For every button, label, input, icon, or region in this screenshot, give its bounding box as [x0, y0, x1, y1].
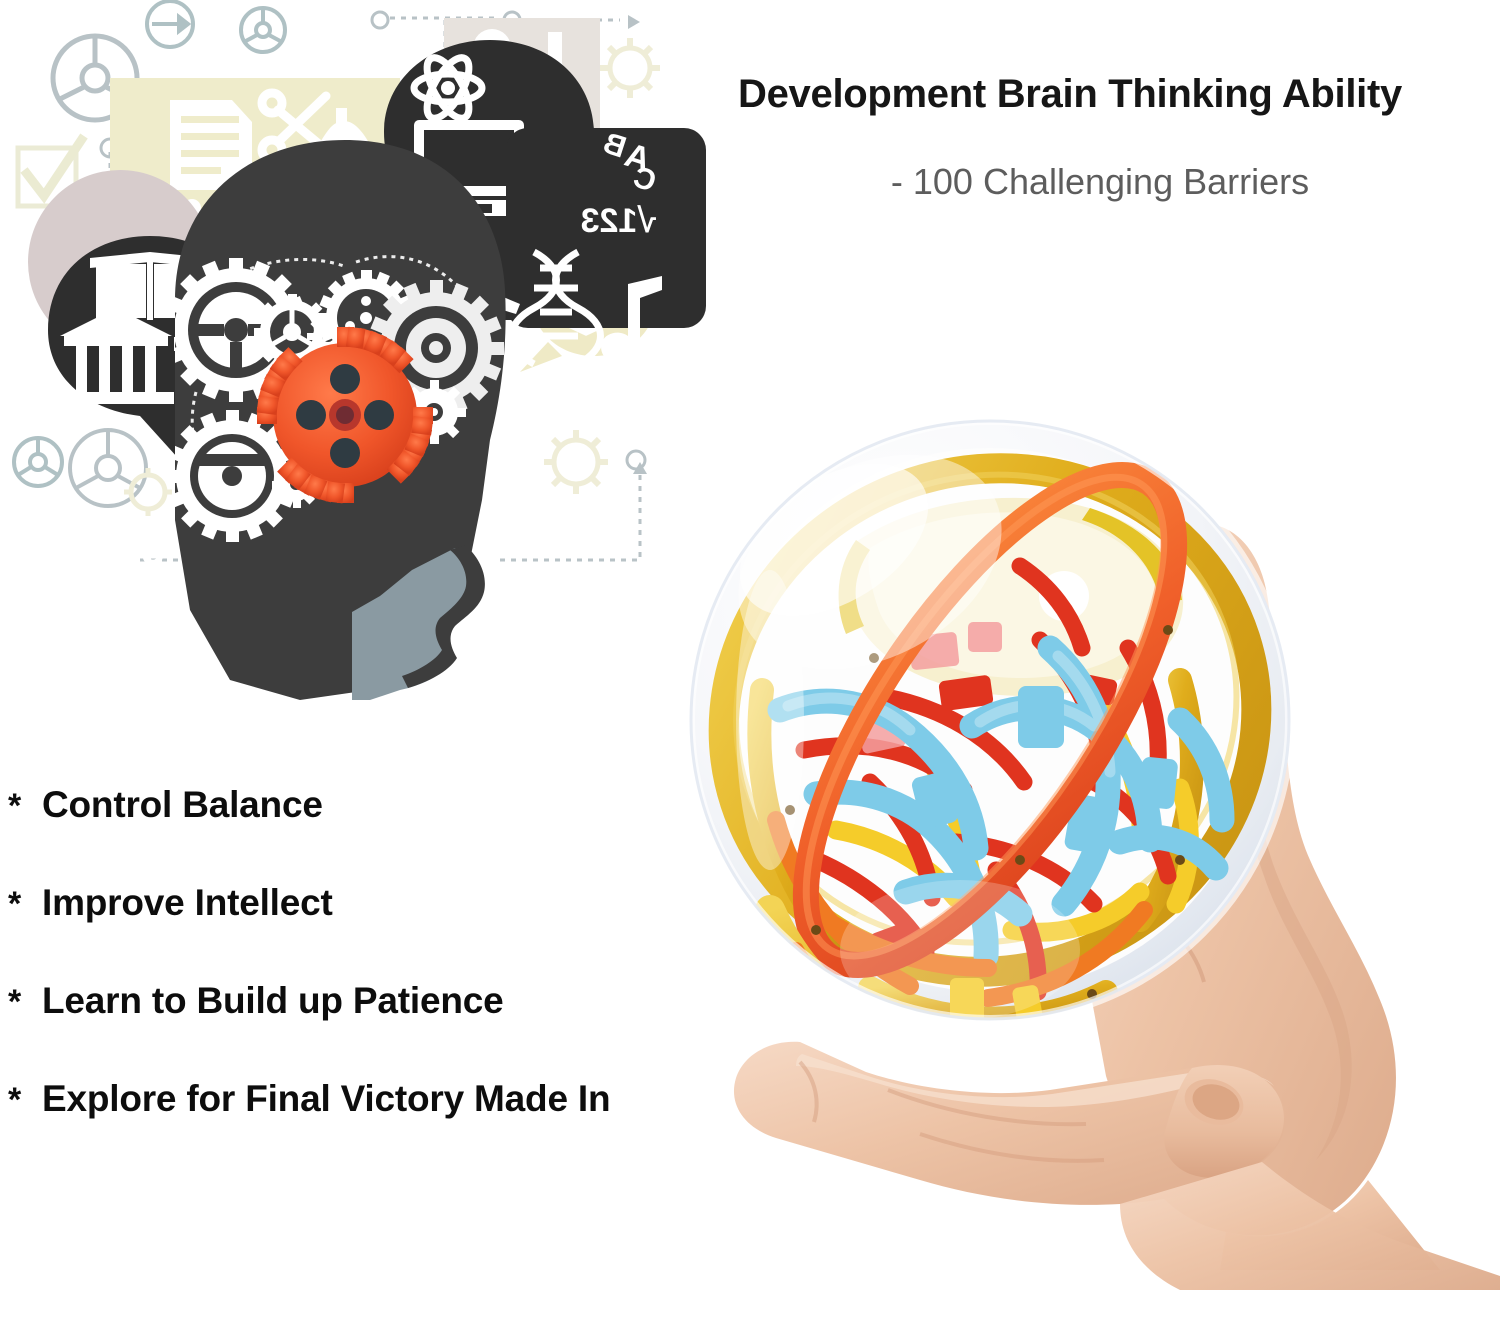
bullet-marker: * — [8, 1083, 42, 1117]
sun-gear-icon — [124, 468, 172, 516]
sun-gear-icon — [544, 430, 608, 494]
headline-block: Development Brain Thinking Ability - 100… — [660, 72, 1480, 203]
feature-item: * Learn to Build up Patience — [8, 982, 808, 1080]
feature-item: * Improve Intellect — [8, 884, 808, 982]
feature-label: Improve Intellect — [42, 884, 333, 921]
sqrt123-icon: √123 — [581, 202, 656, 240]
feature-list: * Control Balance * Improve Intellect * … — [8, 786, 808, 1178]
feature-label: Control Balance — [42, 786, 323, 823]
steering-wheel-icon — [14, 438, 62, 486]
arrow-right-circle-icon — [147, 1, 193, 47]
bullet-marker: * — [8, 985, 42, 1019]
svg-text:√123: √123 — [581, 202, 656, 240]
accent-gear-icon — [257, 327, 434, 504]
feature-item: * Explore for Final Victory Made In — [8, 1080, 808, 1178]
steering-wheel-icon — [241, 8, 285, 52]
page-title: Development Brain Thinking Ability — [660, 72, 1480, 117]
feature-item: * Control Balance — [8, 786, 808, 884]
sun-gear-icon — [600, 38, 660, 98]
steering-wheel-icon — [70, 430, 146, 506]
head-with-gears-illustration: H₂O 2+2 — [0, 0, 720, 720]
page-subtitle: - 100 Challenging Barriers — [660, 161, 1480, 203]
svg-text:2+2: 2+2 — [90, 524, 165, 573]
bullet-marker: * — [8, 887, 42, 921]
feature-label: Learn to Build up Patience — [42, 982, 503, 1019]
feature-label: Explore for Final Victory Made In — [42, 1080, 610, 1117]
bullet-marker: * — [8, 789, 42, 823]
poster-canvas: H₂O 2+2 — [0, 0, 1500, 1331]
